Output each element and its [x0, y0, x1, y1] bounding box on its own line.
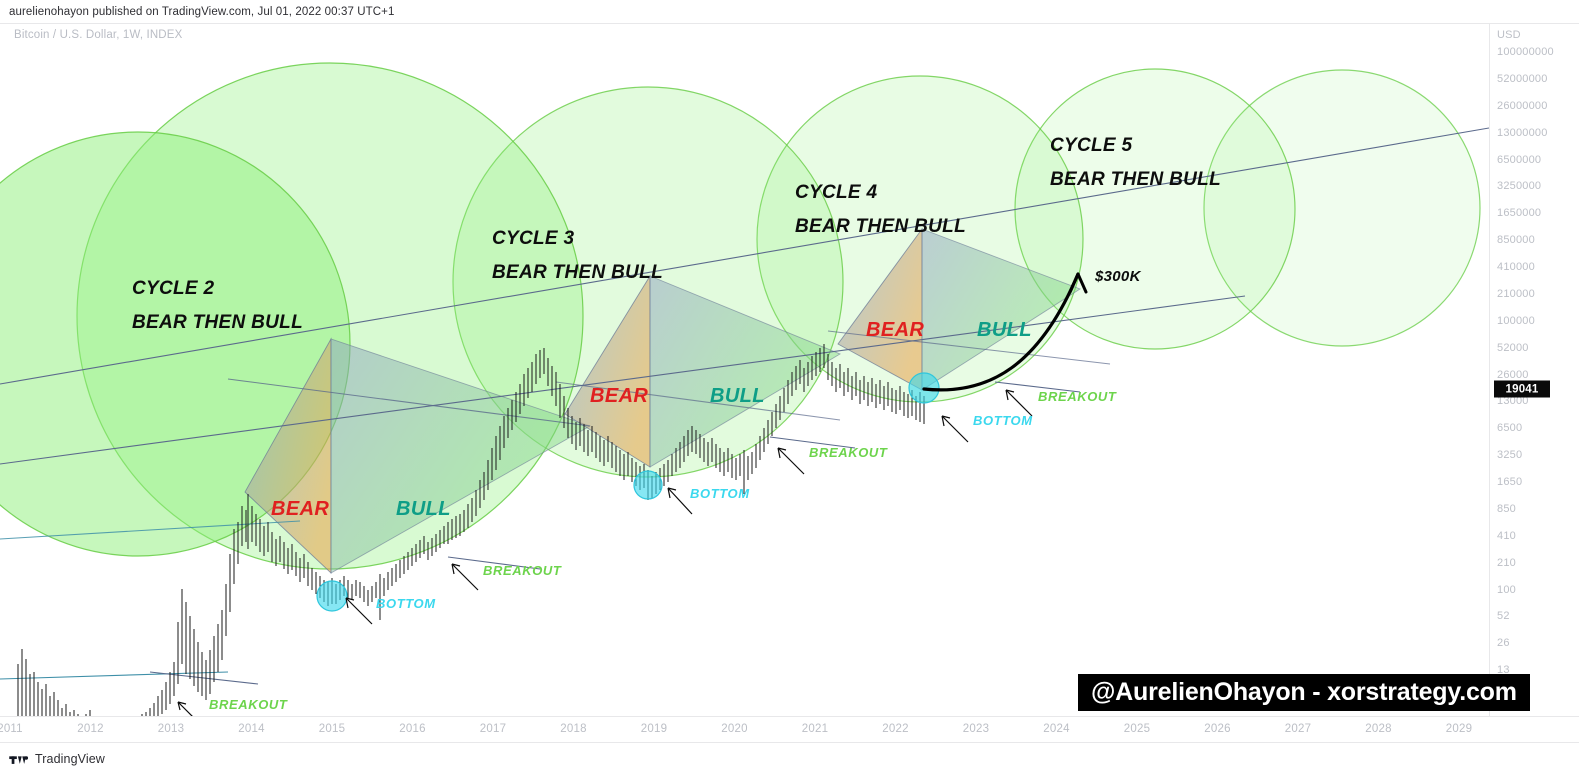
time-tick-2019: 2019 [641, 723, 667, 735]
price-tick-6500000: 6500000 [1497, 154, 1541, 166]
price-tick-3250: 3250 [1497, 449, 1522, 461]
price-axis-unit: USD [1497, 29, 1521, 41]
price-tick-1650000: 1650000 [1497, 207, 1541, 219]
price-tick-52000: 52000 [1497, 342, 1529, 354]
chart-plot-area[interactable]: CYCLE 2 BEAR THEN BULL CYCLE 3 BEAR THEN… [0, 24, 1489, 716]
price-tick-100000000: 100000000 [1497, 46, 1554, 58]
price-tick-26000: 26000 [1497, 369, 1529, 381]
price-tick-13000000: 13000000 [1497, 127, 1548, 139]
time-tick-2013: 2013 [158, 723, 184, 735]
price-tick-52: 52 [1497, 610, 1510, 622]
breakout-line-3 [770, 437, 855, 448]
time-axis[interactable]: 2011201220132014201520162017201820192020… [0, 716, 1579, 742]
bottom-branding-bar: TradingView [0, 742, 1579, 774]
time-tick-2011: 2011 [0, 723, 23, 735]
price-axis[interactable]: USD1000000005200000026000000130000006500… [1489, 24, 1579, 716]
price-tick-410: 410 [1497, 530, 1516, 542]
price-tick-850: 850 [1497, 503, 1516, 515]
price-tick-26: 26 [1497, 637, 1510, 649]
tradingview-chart-screenshot: aurelienohayon published on TradingView.… [0, 0, 1579, 774]
time-tick-2017: 2017 [480, 723, 506, 735]
time-tick-2021: 2021 [802, 723, 828, 735]
time-tick-2029: 2029 [1446, 723, 1472, 735]
publish-bar: aurelienohayon published on TradingView.… [0, 0, 1579, 24]
time-tick-2024: 2024 [1043, 723, 1069, 735]
time-tick-2014: 2014 [238, 723, 264, 735]
bottom-marker-2 [634, 471, 662, 499]
time-tick-2020: 2020 [721, 723, 747, 735]
breakout-line-2 [448, 557, 540, 569]
price-tick-100: 100 [1497, 584, 1516, 596]
time-tick-2026: 2026 [1204, 723, 1230, 735]
time-tick-2012: 2012 [77, 723, 103, 735]
price-tick-100000: 100000 [1497, 315, 1535, 327]
time-tick-2023: 2023 [963, 723, 989, 735]
price-tick-210000: 210000 [1497, 288, 1535, 300]
price-tick-210: 210 [1497, 557, 1516, 569]
author-watermark: @AurelienOhayon - xorstrategy.com [1078, 674, 1530, 711]
time-tick-2028: 2028 [1365, 723, 1391, 735]
price-tick-6500: 6500 [1497, 422, 1522, 434]
time-tick-2016: 2016 [399, 723, 425, 735]
last-price-badge: 19041 [1494, 381, 1550, 398]
bottom-marker-1 [317, 581, 347, 611]
price-tick-3250000: 3250000 [1497, 180, 1541, 192]
tradingview-logo-text: TradingView [35, 752, 105, 766]
tradingview-logo-icon [9, 752, 29, 765]
price-tick-52000000: 52000000 [1497, 73, 1548, 85]
time-tick-2025: 2025 [1124, 723, 1150, 735]
price-tick-410000: 410000 [1497, 261, 1535, 273]
publish-credit-text: aurelienohayon published on TradingView.… [0, 6, 394, 18]
time-tick-2018: 2018 [560, 723, 586, 735]
time-tick-2027: 2027 [1285, 723, 1311, 735]
time-tick-2015: 2015 [319, 723, 345, 735]
price-tick-1650: 1650 [1497, 476, 1522, 488]
price-tick-26000000: 26000000 [1497, 100, 1548, 112]
time-tick-2022: 2022 [882, 723, 908, 735]
price-tick-850000: 850000 [1497, 234, 1535, 246]
